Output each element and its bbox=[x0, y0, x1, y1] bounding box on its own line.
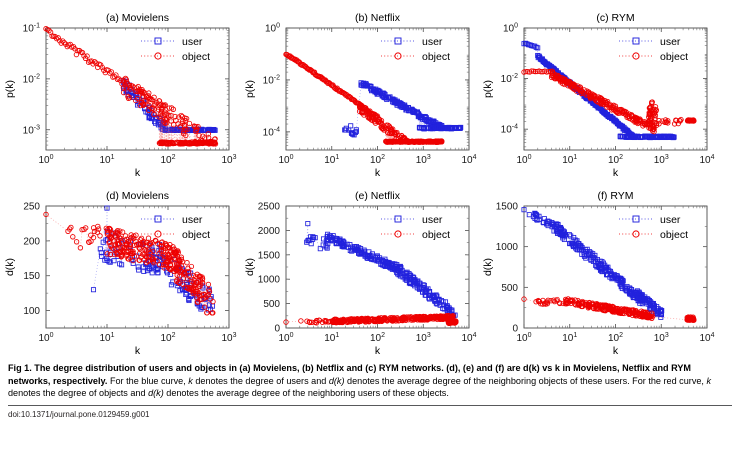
svg-text:101: 101 bbox=[324, 332, 339, 344]
svg-text:p(k): p(k) bbox=[482, 80, 494, 98]
panel-e-netflix-dk-vs-k: (e) Netflix10010110210310405001000150020… bbox=[240, 180, 480, 356]
caption-divider bbox=[8, 405, 732, 406]
svg-text:103: 103 bbox=[654, 154, 669, 166]
svg-text:user: user bbox=[422, 36, 443, 48]
svg-text:1500: 1500 bbox=[496, 202, 519, 213]
svg-text:k: k bbox=[375, 345, 381, 356]
svg-text:user: user bbox=[422, 214, 443, 226]
svg-text:103: 103 bbox=[416, 154, 431, 166]
svg-text:k: k bbox=[135, 167, 141, 178]
svg-text:104: 104 bbox=[461, 332, 476, 344]
svg-text:101: 101 bbox=[99, 332, 114, 344]
svg-text:250: 250 bbox=[23, 202, 40, 213]
svg-text:10-2: 10-2 bbox=[263, 74, 280, 86]
svg-text:k: k bbox=[135, 345, 141, 356]
svg-text:user: user bbox=[182, 214, 203, 226]
caption-italic-k-2: k bbox=[706, 376, 711, 386]
svg-text:object: object bbox=[660, 229, 688, 241]
svg-text:1000: 1000 bbox=[496, 242, 519, 253]
svg-text:k: k bbox=[613, 167, 619, 178]
panel-c-rym-degree-distribution: (c) RYM10010110210310410010-210-4kp(k)us… bbox=[478, 2, 718, 178]
svg-text:k: k bbox=[613, 345, 619, 356]
svg-text:(f) RYM: (f) RYM bbox=[598, 190, 634, 202]
figure-caption: Fig 1. The degree distribution of users … bbox=[8, 362, 732, 400]
chart-e: (e) Netflix10010110210310405001000150020… bbox=[240, 180, 480, 356]
svg-text:object: object bbox=[660, 51, 688, 63]
svg-text:k: k bbox=[375, 167, 381, 178]
svg-text:101: 101 bbox=[562, 154, 577, 166]
svg-text:(b) Netflix: (b) Netflix bbox=[355, 12, 401, 24]
caption-text: Fig 1. The degree distribution of users … bbox=[8, 362, 732, 400]
figure-sheet: (a) Movielens10010110210310-110-210-3kp(… bbox=[0, 0, 740, 449]
svg-text:103: 103 bbox=[654, 332, 669, 344]
svg-text:(d) Movielens: (d) Movielens bbox=[106, 190, 169, 202]
svg-text:2500: 2500 bbox=[258, 202, 281, 213]
svg-text:10-2: 10-2 bbox=[501, 73, 518, 85]
svg-text:102: 102 bbox=[608, 332, 623, 344]
panel-d-movielens-dk-vs-k: (d) Movielens100101102103100150200250kd(… bbox=[0, 180, 240, 356]
chart-f: (f) RYM100101102103104050010001500kd(k)u… bbox=[478, 180, 718, 356]
svg-text:100: 100 bbox=[38, 154, 53, 166]
svg-text:object: object bbox=[182, 51, 210, 63]
svg-text:100: 100 bbox=[278, 332, 293, 344]
svg-text:d(k): d(k) bbox=[482, 258, 494, 276]
caption-rest-2: denotes the degree of users and bbox=[193, 376, 329, 386]
svg-text:150: 150 bbox=[23, 271, 40, 282]
caption-rest-1: For the blue curve, bbox=[110, 376, 188, 386]
svg-text:104: 104 bbox=[699, 332, 714, 344]
svg-text:104: 104 bbox=[461, 154, 476, 166]
svg-text:0: 0 bbox=[274, 324, 280, 335]
svg-text:p(k): p(k) bbox=[4, 80, 16, 98]
svg-text:102: 102 bbox=[160, 154, 175, 166]
svg-text:100: 100 bbox=[38, 332, 53, 344]
svg-text:object: object bbox=[182, 229, 210, 241]
svg-text:500: 500 bbox=[501, 283, 518, 294]
svg-text:101: 101 bbox=[99, 154, 114, 166]
svg-text:103: 103 bbox=[221, 332, 236, 344]
panel-f-rym-dk-vs-k: (f) RYM100101102103104050010001500kd(k)u… bbox=[478, 180, 718, 356]
svg-text:object: object bbox=[422, 229, 450, 241]
caption-rest-4: denotes the degree of objects and bbox=[8, 388, 148, 398]
svg-text:104: 104 bbox=[699, 154, 714, 166]
svg-text:(c) RYM: (c) RYM bbox=[596, 12, 634, 24]
svg-text:d(k): d(k) bbox=[244, 258, 256, 276]
svg-text:user: user bbox=[660, 36, 681, 48]
svg-text:object: object bbox=[422, 51, 450, 63]
caption-label: Fig 1. bbox=[8, 363, 32, 373]
svg-text:100: 100 bbox=[278, 154, 293, 166]
svg-text:(e) Netflix: (e) Netflix bbox=[355, 190, 401, 202]
svg-text:10-2: 10-2 bbox=[23, 73, 40, 85]
svg-text:100: 100 bbox=[23, 306, 40, 317]
svg-text:103: 103 bbox=[416, 332, 431, 344]
svg-text:(a) Movielens: (a) Movielens bbox=[106, 12, 169, 24]
svg-text:user: user bbox=[182, 36, 203, 48]
svg-text:103: 103 bbox=[221, 154, 236, 166]
svg-text:10-4: 10-4 bbox=[263, 126, 280, 138]
chart-d: (d) Movielens100101102103100150200250kd(… bbox=[0, 180, 240, 356]
svg-text:100: 100 bbox=[265, 23, 280, 35]
panel-grid: (a) Movielens10010110210310-110-210-3kp(… bbox=[0, 0, 740, 352]
svg-text:10-1: 10-1 bbox=[23, 23, 40, 35]
svg-text:100: 100 bbox=[516, 154, 531, 166]
svg-text:102: 102 bbox=[608, 154, 623, 166]
chart-b: (b) Netflix10010110210310410010-210-4kp(… bbox=[240, 2, 480, 178]
chart-c: (c) RYM10010110210310410010-210-4kp(k)us… bbox=[478, 2, 718, 178]
svg-text:1000: 1000 bbox=[258, 275, 281, 286]
doi-text: doi:10.1371/journal.pone.0129459.g001 bbox=[8, 410, 149, 419]
svg-text:500: 500 bbox=[263, 299, 280, 310]
svg-text:102: 102 bbox=[370, 332, 385, 344]
svg-text:101: 101 bbox=[324, 154, 339, 166]
panel-b-netflix-degree-distribution: (b) Netflix10010110210310410010-210-4kp(… bbox=[240, 2, 480, 178]
caption-rest-5: denotes the average degree of the neighb… bbox=[164, 388, 449, 398]
svg-text:1500: 1500 bbox=[258, 250, 281, 261]
caption-rest-3: denotes the average degree of the neighb… bbox=[345, 376, 707, 386]
svg-text:user: user bbox=[660, 214, 681, 226]
svg-text:d(k): d(k) bbox=[4, 258, 16, 276]
svg-text:10-3: 10-3 bbox=[23, 124, 40, 136]
svg-text:p(k): p(k) bbox=[244, 80, 256, 98]
svg-text:100: 100 bbox=[503, 23, 518, 35]
caption-italic-dk-1: d(k) bbox=[329, 376, 345, 386]
svg-text:102: 102 bbox=[370, 154, 385, 166]
svg-text:100: 100 bbox=[516, 332, 531, 344]
svg-text:10-4: 10-4 bbox=[501, 124, 518, 136]
caption-italic-dk-2: d(k) bbox=[148, 388, 164, 398]
svg-text:0: 0 bbox=[512, 324, 518, 335]
chart-a: (a) Movielens10010110210310-110-210-3kp(… bbox=[0, 2, 240, 178]
svg-text:200: 200 bbox=[23, 236, 40, 247]
svg-text:101: 101 bbox=[562, 332, 577, 344]
panel-a-movielens-degree-distribution: (a) Movielens10010110210310-110-210-3kp(… bbox=[0, 2, 240, 178]
svg-text:2000: 2000 bbox=[258, 226, 281, 237]
svg-text:102: 102 bbox=[160, 332, 175, 344]
